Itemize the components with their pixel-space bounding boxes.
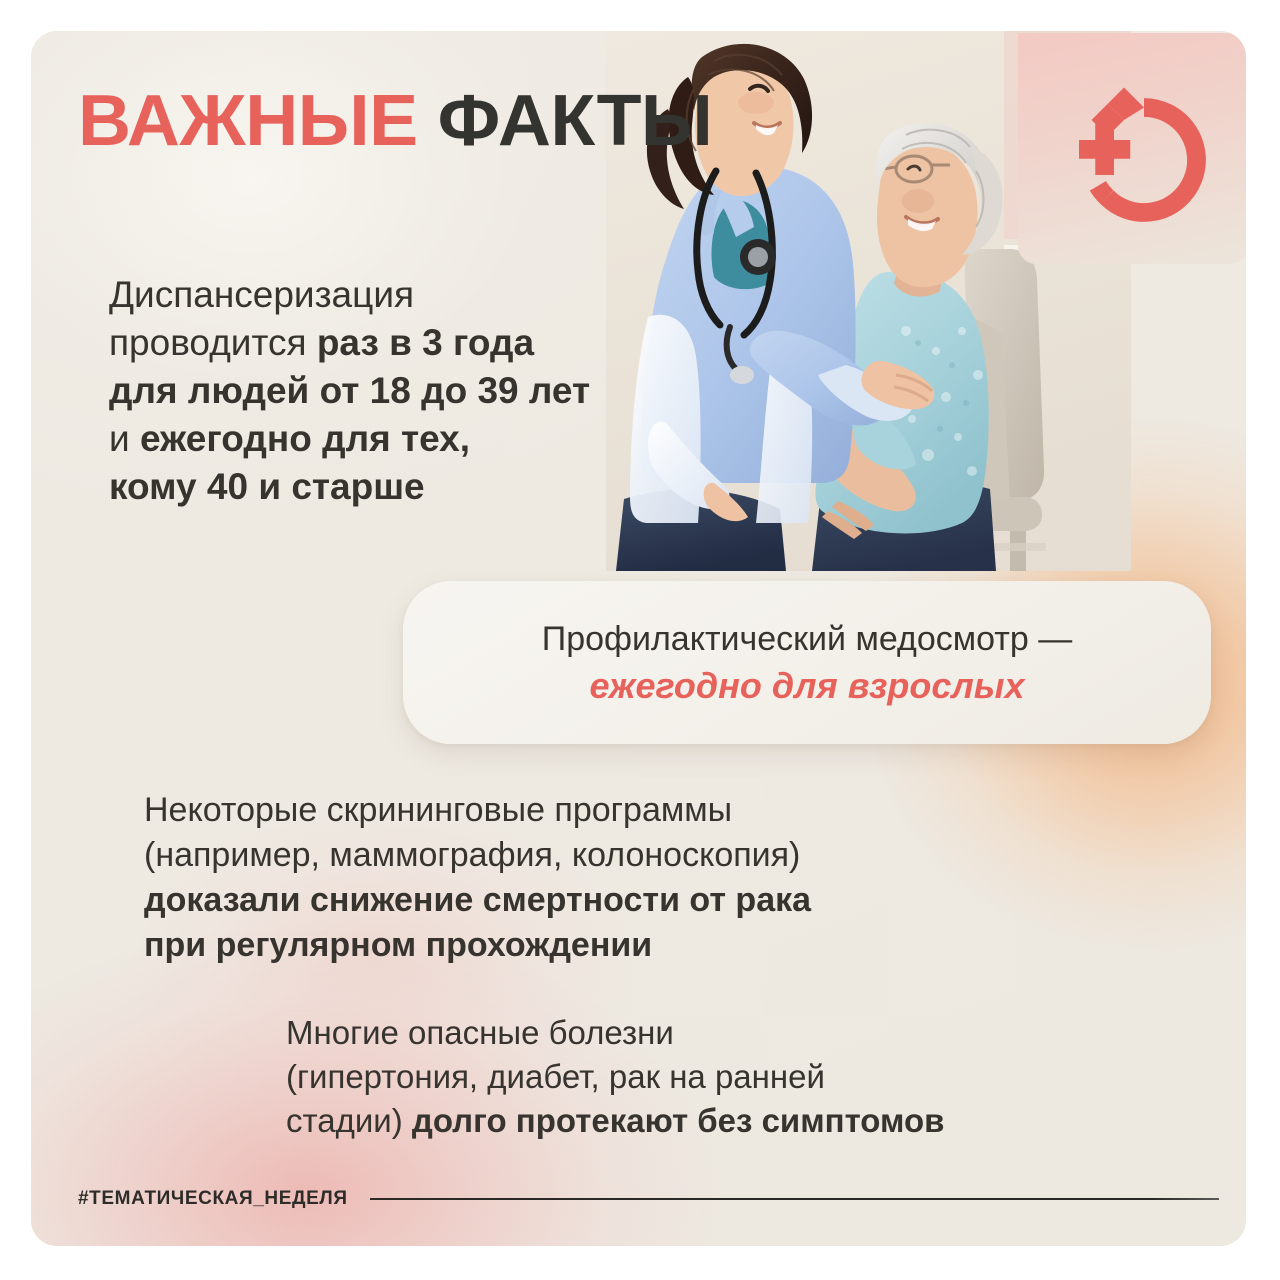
fact2-line4: при регулярном прохождении: [144, 923, 811, 968]
fact2-line1-regular: Некоторые скрининговые программы: [144, 791, 732, 829]
fact2-line3-bold: доказали снижение смертности от рака: [144, 881, 811, 919]
fact1-line4-bold: ежегодно для тех,: [140, 418, 470, 459]
fact1-line2-bold: раз в 3 года: [317, 322, 534, 363]
fact2-line1: Некоторые скрининговые программы: [144, 788, 811, 833]
fact2-line2: (например, маммография, колоноскопия): [144, 833, 811, 878]
callout-card: Профилактический медосмотр — ежегодно дл…: [403, 581, 1211, 744]
fact3-line2: (гипертония, диабет, рак на ранней: [286, 1055, 944, 1099]
fact1-line5-bold: кому 40 и старше: [109, 466, 425, 507]
fact3-line1: Многие опасные болезни: [286, 1011, 944, 1055]
icon-badge-panel: [1018, 33, 1246, 264]
fact1-line1-regular: Диспансеризация: [109, 274, 414, 315]
fact-paragraph-3: Многие опасные болезни (гипертония, диаб…: [286, 1011, 944, 1143]
fact1-line1: Диспансеризация: [109, 271, 590, 319]
page-title: ВАЖНЫЕ ФАКТЫ: [78, 80, 712, 162]
footer: #ТЕМАТИЧЕСКАЯ_НЕДЕЛЯ: [78, 1179, 1221, 1219]
callout-line-1: Профилактический медосмотр —: [542, 617, 1072, 661]
fact3-line3: стадии) долго протекают без симптомов: [286, 1099, 944, 1143]
fact1-line2: проводится раз в 3 года: [109, 319, 590, 367]
fact-paragraph-2: Некоторые скрининговые программы (наприм…: [144, 788, 811, 968]
fact3-line3-bold: долго протекают без симптомов: [412, 1102, 945, 1139]
fact3-line3-regular: стадии): [286, 1102, 412, 1139]
fact3-line2-regular: (гипертония, диабет, рак на ранней: [286, 1058, 825, 1095]
fact2-line3: доказали снижение смертности от рака: [144, 878, 811, 923]
footer-hashtag: #ТЕМАТИЧЕСКАЯ_НЕДЕЛЯ: [78, 1188, 348, 1210]
poster-root: ВАЖНЫЕ ФАКТЫ Диспансеризаци: [0, 0, 1280, 1280]
fact2-line4-bold: при регулярном прохождении: [144, 926, 652, 964]
callout-line-2: ежегодно для взрослых: [589, 663, 1024, 709]
fact1-line4-regular: и: [109, 418, 140, 459]
fact1-line3-bold: для людей от 18 до 39 лет: [109, 370, 590, 411]
footer-divider-line: [370, 1198, 1219, 1200]
fact-paragraph-1: Диспансеризация проводится раз в 3 года …: [109, 271, 590, 511]
fact2-line2-regular: (например, маммография, колоноскопия): [144, 836, 800, 874]
fact1-line4: и ежегодно для тех,: [109, 415, 590, 463]
fact1-line3: для людей от 18 до 39 лет: [109, 367, 590, 415]
headline-accent-word: ВАЖНЫЕ: [78, 81, 418, 161]
fact3-line1-regular: Многие опасные болезни: [286, 1014, 674, 1051]
medical-cross-refresh-icon: [1069, 85, 1219, 235]
poster-card: ВАЖНЫЕ ФАКТЫ Диспансеризаци: [31, 31, 1246, 1246]
fact1-line2-regular: проводится: [109, 322, 317, 363]
fact1-line5: кому 40 и старше: [109, 463, 590, 511]
headline-dark-word: ФАКТЫ: [438, 81, 713, 161]
